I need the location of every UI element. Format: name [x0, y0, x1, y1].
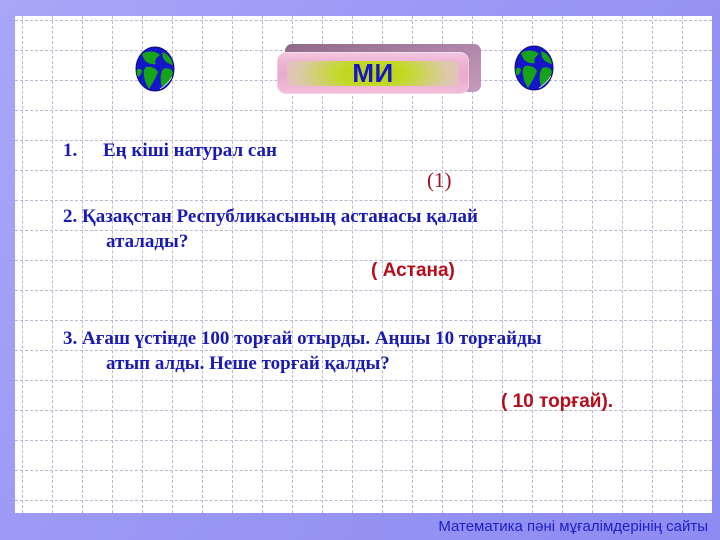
- grid-line-horizontal: [15, 320, 712, 321]
- question-2-line1: Қазақстан Республикасының астанасы қалай: [82, 206, 478, 227]
- grid-line-horizontal: [15, 440, 712, 441]
- grid-line-horizontal: [15, 200, 712, 201]
- question-3-line2: атып алды. Неше торғай қалды?: [106, 351, 693, 376]
- globe-icon: [511, 44, 557, 92]
- grid-line-horizontal: [15, 110, 712, 111]
- grid-paper-area: МИ 1. Ең кіші натурал сан (1) 2. Қазақст…: [15, 16, 712, 513]
- plaque-title-text: МИ: [277, 52, 469, 94]
- slide-canvas: МИ 1. Ең кіші натурал сан (1) 2. Қазақст…: [0, 0, 720, 540]
- grid-line-horizontal: [15, 20, 712, 21]
- grid-line-vertical: [682, 16, 683, 513]
- grid-line-vertical: [232, 16, 233, 513]
- grid-line-vertical: [112, 16, 113, 513]
- grid-line-horizontal: [15, 470, 712, 471]
- question-1-answer: (1): [427, 168, 452, 193]
- question-1-number: 1.: [63, 138, 77, 163]
- grid-line-vertical: [652, 16, 653, 513]
- title-plaque: МИ: [277, 44, 477, 94]
- grid-line-vertical: [262, 16, 263, 513]
- question-2-text: 2. Қазақстан Республикасының астанасы қа…: [63, 204, 543, 254]
- question-1-text: Ең кіші натурал сан: [103, 138, 277, 163]
- grid-line-horizontal: [15, 260, 712, 261]
- grid-line-vertical: [622, 16, 623, 513]
- question-2-answer: ( Астана): [371, 260, 455, 282]
- question-3-text: 3. Ағаш үстінде 100 торғай отырды. Аңшы …: [63, 326, 693, 376]
- question-3-number: 3.: [63, 328, 77, 349]
- question-3-line1: Ағаш үстінде 100 торғай отырды. Аңшы 10 …: [82, 328, 542, 349]
- grid-line-vertical: [502, 16, 503, 513]
- grid-line-vertical: [52, 16, 53, 513]
- question-2-line2: аталады?: [106, 229, 543, 254]
- grid-line-horizontal: [15, 290, 712, 291]
- grid-line-vertical: [202, 16, 203, 513]
- footer-credit: Математика пәні мұғалімдерінің сайты: [438, 518, 708, 535]
- question-3-answer: ( 10 торғай).: [501, 391, 613, 413]
- grid-line-vertical: [82, 16, 83, 513]
- grid-line-horizontal: [15, 380, 712, 381]
- grid-line-vertical: [592, 16, 593, 513]
- globe-icon: [132, 45, 178, 93]
- grid-line-vertical: [562, 16, 563, 513]
- grid-line-vertical: [22, 16, 23, 513]
- grid-line-horizontal: [15, 170, 712, 171]
- question-2-number: 2.: [63, 206, 77, 227]
- grid-line-horizontal: [15, 500, 712, 501]
